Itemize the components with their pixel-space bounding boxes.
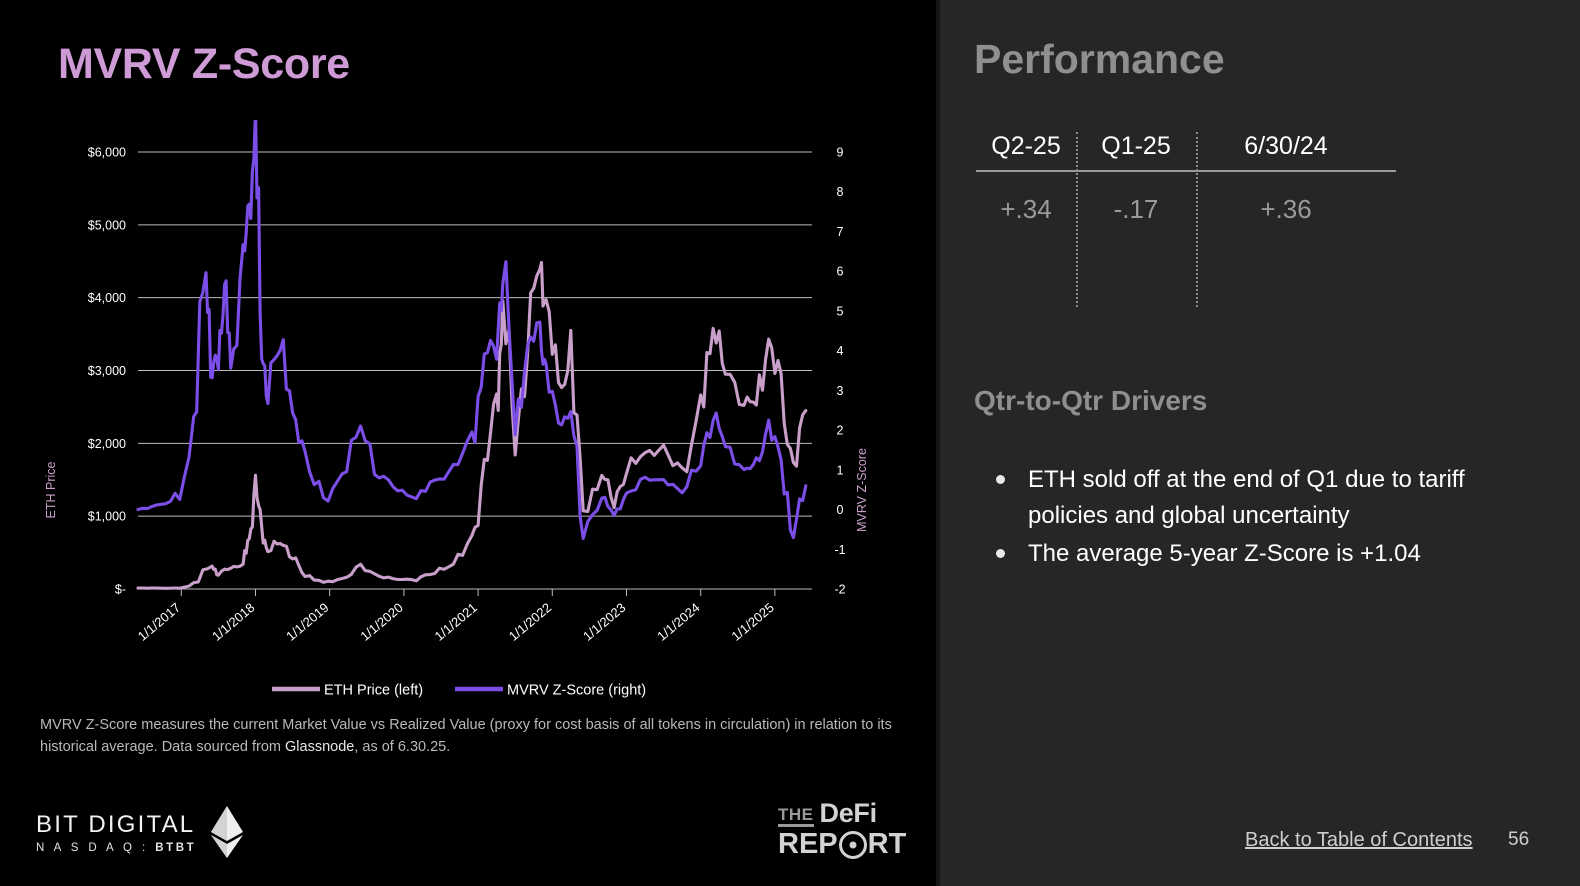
page-title: MVRV Z-Score xyxy=(58,40,350,89)
perf-value-0: +.34 xyxy=(976,194,1076,225)
x-axis-tick-label: 1/1/2019 xyxy=(283,600,331,644)
perf-col-header-2: 6/30/24 xyxy=(1196,132,1376,170)
y-axis-left-tick-label: $1,000 xyxy=(88,510,126,524)
perf-col-header-1: Q1-25 xyxy=(1076,132,1196,170)
chart-legend: ETH Price (left)MVRV Z-Score (right) xyxy=(272,683,646,699)
y-axis-left-title: ETH Price xyxy=(44,461,58,518)
legend-label: ETH Price (left) xyxy=(324,683,423,699)
drivers-heading: Qtr-to-Qtr Drivers xyxy=(974,385,1207,417)
performance-table-values: +.34 -.17 +.36 xyxy=(976,172,1396,225)
defi-the-label: THE xyxy=(778,806,814,827)
defi-logo-row-2: REP RT xyxy=(778,830,906,859)
x-axis-tick-label: 1/1/2020 xyxy=(357,600,405,644)
perf-value-1: -.17 xyxy=(1076,194,1196,225)
right-panel: Performance Q2-25 Q1-25 6/30/24 +.34 -.1… xyxy=(940,0,1580,886)
y-axis-right-title: MVRV Z-Score xyxy=(855,448,869,532)
y-axis-left-tick-label: $2,000 xyxy=(88,437,126,451)
x-axis-tick-label: 1/1/2021 xyxy=(432,600,480,644)
y-axis-left-tick-label: $6,000 xyxy=(88,146,126,160)
x-axis-tick-label: 1/1/2018 xyxy=(209,600,257,644)
y-axis-right-tick-label: 4 xyxy=(837,344,844,358)
y-axis-right-tick-label: 9 xyxy=(837,146,844,160)
performance-table: Q2-25 Q1-25 6/30/24 +.34 -.17 +.36 xyxy=(976,132,1396,225)
y-axis-left-tick-label: $5,000 xyxy=(88,218,126,232)
perf-col-header-0: Q2-25 xyxy=(976,132,1076,170)
legend-label: MVRV Z-Score (right) xyxy=(507,683,646,699)
defi-logo-row-1: THE DeFi xyxy=(778,800,906,827)
performance-heading: Performance xyxy=(974,36,1225,83)
bit-digital-ticker-row: N A S D A Q : BTBT xyxy=(36,842,196,854)
defi-rt-label: RT xyxy=(868,830,907,859)
bit-digital-name: BIT DIGITAL xyxy=(36,811,196,839)
y-axis-right-tick-label: 0 xyxy=(837,503,844,517)
y-axis-right-tick-label: 7 xyxy=(837,225,844,239)
y-axis-left-ticks: $-$1,000$2,000$3,000$4,000$5,000$6,000 xyxy=(88,146,126,597)
y-axis-right-tick-label: 8 xyxy=(837,185,844,199)
y-axis-right-tick-label: 1 xyxy=(837,463,844,477)
x-axis-tick-label: 1/1/2023 xyxy=(580,600,628,644)
bit-digital-text: BIT DIGITAL N A S D A Q : BTBT xyxy=(36,811,196,854)
x-axis-tick-label: 1/1/2017 xyxy=(135,600,183,644)
back-to-toc-link[interactable]: Back to Table of Contents xyxy=(1245,829,1473,852)
perf-value-2: +.36 xyxy=(1196,194,1376,225)
defi-defi-label: DeFi xyxy=(820,800,877,827)
page-number: 56 xyxy=(1508,829,1529,851)
footnote-text-before: MVRV Z-Score measures the current Market… xyxy=(40,717,892,755)
series-line xyxy=(138,120,806,539)
x-axis-tick-label: 1/1/2025 xyxy=(728,600,776,644)
bullseye-icon xyxy=(839,831,867,859)
footnote-source: Glassnode xyxy=(285,739,354,755)
nasdaq-label: N A S D A Q : xyxy=(36,842,149,854)
y-axis-right-tick-label: 6 xyxy=(837,265,844,279)
slide-root: MVRV Z-Score $-$1,000$2,000$3,000$4,000$… xyxy=(0,0,1580,886)
y-axis-right-ticks: -2-10123456789 xyxy=(834,146,845,597)
y-axis-left-tick-label: $3,000 xyxy=(88,364,126,378)
defi-report-logo: THE DeFi REP RT xyxy=(778,800,906,859)
y-axis-right-tick-label: -2 xyxy=(834,583,845,597)
table-divider-2 xyxy=(1196,132,1198,307)
y-axis-left-tick-label: $4,000 xyxy=(88,291,126,305)
y-axis-right-tick-label: -1 xyxy=(834,543,845,557)
y-axis-right-tick-label: 5 xyxy=(837,304,844,318)
list-item: ETH sold off at the end of Q1 due to tar… xyxy=(984,462,1544,533)
chart-svg: $-$1,000$2,000$3,000$4,000$5,000$6,000 -… xyxy=(0,120,940,700)
mvrv-zscore-chart: $-$1,000$2,000$3,000$4,000$5,000$6,000 -… xyxy=(0,120,940,700)
y-axis-right-tick-label: 3 xyxy=(837,384,844,398)
performance-table-header: Q2-25 Q1-25 6/30/24 xyxy=(976,132,1396,170)
table-divider-1 xyxy=(1076,132,1078,307)
y-axis-right-tick-label: 2 xyxy=(837,424,844,438)
chart-footnote: MVRV Z-Score measures the current Market… xyxy=(40,714,910,759)
y-axis-left-tick-label: $- xyxy=(115,583,126,597)
ticker-symbol: BTBT xyxy=(155,842,196,854)
x-axis-ticks: 1/1/20171/1/20181/1/20191/1/20201/1/2021… xyxy=(135,589,812,644)
chart-series xyxy=(138,120,806,588)
list-item: The average 5-year Z-Score is +1.04 xyxy=(984,536,1544,572)
x-axis-tick-label: 1/1/2024 xyxy=(654,600,702,644)
defi-rep-label: REP xyxy=(778,830,838,859)
footnote-text-after: , as of 6.30.25. xyxy=(354,739,450,755)
ethereum-diamond-icon xyxy=(210,806,244,858)
left-panel: MVRV Z-Score $-$1,000$2,000$3,000$4,000$… xyxy=(0,0,940,886)
bit-digital-logo: BIT DIGITAL N A S D A Q : BTBT xyxy=(36,806,244,858)
chart-gridlines xyxy=(138,152,812,589)
x-axis-tick-label: 1/1/2022 xyxy=(506,600,554,644)
drivers-list: ETH sold off at the end of Q1 due to tar… xyxy=(984,462,1544,575)
